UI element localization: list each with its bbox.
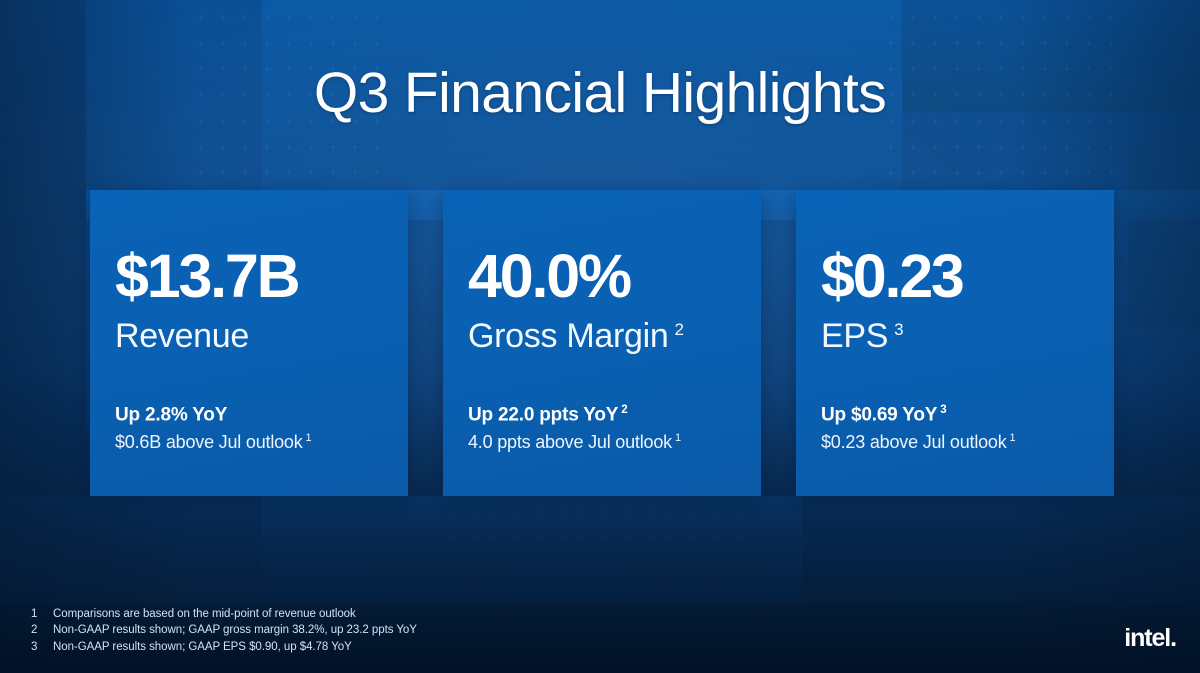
footnote-number: 3	[31, 639, 53, 656]
footnote-text: Comparisons are based on the mid-point o…	[53, 606, 356, 623]
metric-label: Revenue	[115, 318, 255, 355]
metric-note-text: 4.0 ppts above Jul outlook	[468, 432, 672, 452]
metric-label-text: Revenue	[115, 317, 249, 355]
metric-delta: Up 2.8% YoY	[115, 404, 230, 426]
footnote-text: Non-GAAP results shown; GAAP gross margi…	[53, 622, 417, 639]
card-content: $13.7B Revenue Up 2.8% YoY $0.6B above J…	[115, 190, 394, 496]
metric-delta-footnote-ref: 2	[621, 404, 627, 416]
metric-delta-text: Up 22.0 ppts YoY	[468, 404, 618, 425]
metric-card-revenue: $13.7B Revenue Up 2.8% YoY $0.6B above J…	[90, 190, 408, 496]
footnote-number: 2	[31, 622, 53, 639]
metric-note: $0.6B above Jul outlook1	[115, 432, 311, 453]
card-content: 40.0% Gross Margin2 Up 22.0 ppts YoY2 4.…	[468, 190, 747, 496]
slide-root: Q3 Financial Highlights $13.7B Revenue U…	[0, 0, 1200, 673]
metric-note: $0.23 above Jul outlook1	[821, 432, 1015, 453]
page-title: Q3 Financial Highlights	[0, 60, 1200, 126]
metric-value: $13.7B	[115, 246, 299, 307]
bg-block-right-band	[1113, 190, 1200, 220]
metric-label-footnote-ref: 3	[894, 320, 903, 339]
metric-note-text: $0.23 above Jul outlook	[821, 432, 1007, 452]
footnotes-list: 1 Comparisons are based on the mid-point…	[31, 606, 417, 656]
metric-label-text: EPS	[821, 317, 888, 355]
metric-card-gross-margin: 40.0% Gross Margin2 Up 22.0 ppts YoY2 4.…	[443, 190, 761, 496]
metric-note-footnote-ref: 1	[1010, 432, 1016, 444]
metric-card-eps: $0.23 EPS3 Up $0.69 YoY3 $0.23 above Jul…	[796, 190, 1114, 496]
footnote-text: Non-GAAP results shown; GAAP EPS $0.90, …	[53, 639, 352, 656]
intel-logo: intel.	[1124, 626, 1176, 651]
metric-cards-row: $13.7B Revenue Up 2.8% YoY $0.6B above J…	[90, 190, 1114, 496]
metric-label-text: Gross Margin	[468, 317, 668, 355]
metric-delta-footnote-ref: 3	[940, 404, 946, 416]
metric-label-footnote-ref: 2	[674, 320, 683, 339]
card-content: $0.23 EPS3 Up $0.69 YoY3 $0.23 above Jul…	[821, 190, 1100, 496]
metric-delta: Up 22.0 ppts YoY2	[468, 404, 627, 426]
footnote-number: 1	[31, 606, 53, 623]
metric-delta-text: Up 2.8% YoY	[115, 404, 227, 425]
bg-block-right-panel	[1128, 112, 1200, 327]
metric-value: 40.0%	[468, 246, 630, 307]
metric-label: Gross Margin2	[468, 318, 684, 355]
footnote-item: 3 Non-GAAP results shown; GAAP EPS $0.90…	[31, 639, 417, 656]
metric-note-text: $0.6B above Jul outlook	[115, 432, 303, 452]
footnote-item: 1 Comparisons are based on the mid-point…	[31, 606, 417, 623]
bg-dotgrid-lower	[440, 500, 740, 604]
metric-note-footnote-ref: 1	[306, 432, 312, 444]
metric-value: $0.23	[821, 246, 963, 307]
metric-label: EPS3	[821, 318, 904, 355]
metric-delta-text: Up $0.69 YoY	[821, 404, 937, 425]
bg-block-lower-center	[262, 496, 802, 604]
footnote-item: 2 Non-GAAP results shown; GAAP gross mar…	[31, 622, 417, 639]
metric-note: 4.0 ppts above Jul outlook1	[468, 432, 681, 453]
metric-delta: Up $0.69 YoY3	[821, 404, 946, 426]
metric-note-footnote-ref: 1	[675, 432, 681, 444]
